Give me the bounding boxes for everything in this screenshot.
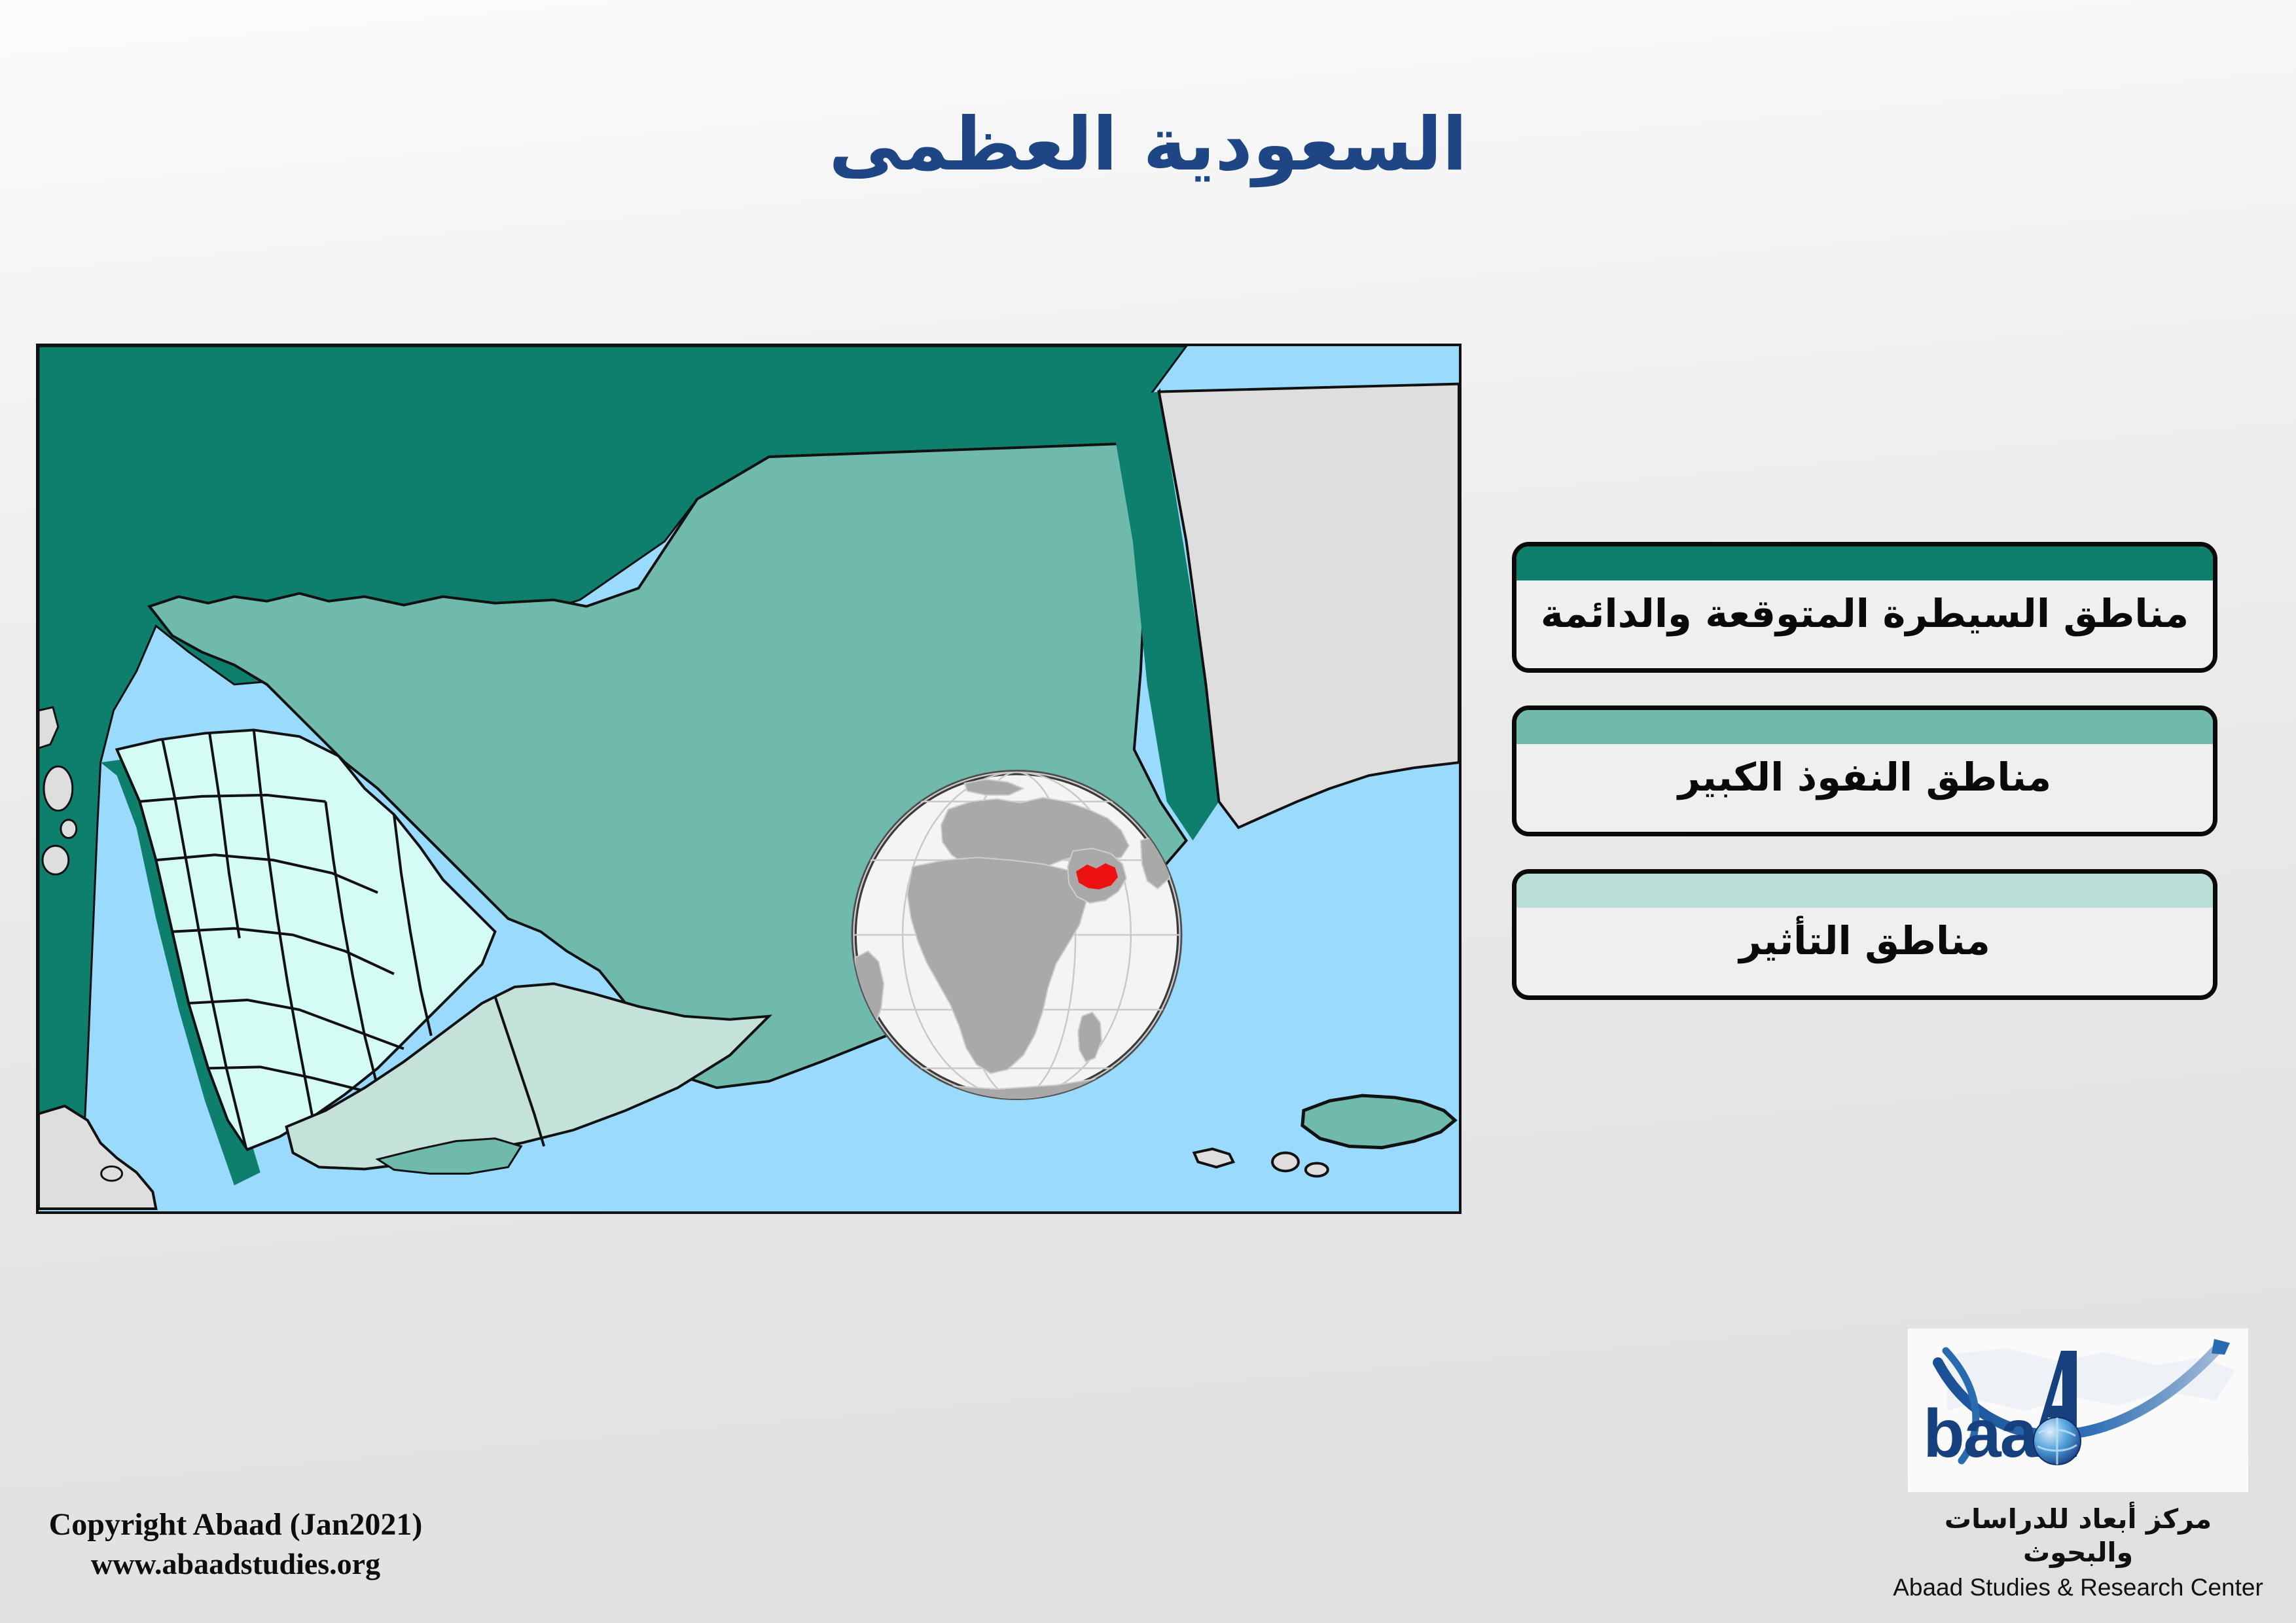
legend-swatch-light-teal [1516,874,2213,908]
abaad-logo-mark: baad [1908,1329,2248,1492]
legend-swatch-medium-teal [1516,710,2213,744]
website-link[interactable]: www.abaadstudies.org [26,1544,445,1584]
globe-locator-inset[interactable] [851,770,1182,1100]
page-title: السعودية العظمى [0,105,2296,185]
yemen-influence-map[interactable] [39,346,1459,1211]
logo-name-arabic: مركز أبعاد للدراسات والبحوث [1885,1503,2271,1570]
map-panel[interactable] [36,344,1462,1214]
logo-block: baad مركز أبعاد للدراسات والبحوث Abaad S… [1885,1329,2271,1603]
legend-label-influence: مناطق النفوذ الكبير [1678,743,2051,800]
legend: مناطق السيطرة المتوقعة والدائمة مناطق ال… [1512,542,2217,1033]
legend-item-control[interactable]: مناطق السيطرة المتوقعة والدائمة [1512,542,2217,673]
legend-swatch-dark-teal [1516,546,2213,580]
legend-label-control: مناطق السيطرة المتوقعة والدائمة [1541,579,2189,636]
legend-item-effect[interactable]: مناطق التأثير [1512,869,2217,1000]
legend-label-effect: مناطق التأثير [1739,906,1990,963]
logo-name-english: Abaad Studies & Research Center [1885,1573,2271,1603]
abaad-logo-icon: baad [1908,1329,2248,1492]
legend-item-influence[interactable]: مناطق النفوذ الكبير [1512,705,2217,836]
copyright-block: Copyright Abaad (Jan2021) www.abaadstudi… [26,1505,445,1584]
copyright-line: Copyright Abaad (Jan2021) [26,1505,445,1544]
